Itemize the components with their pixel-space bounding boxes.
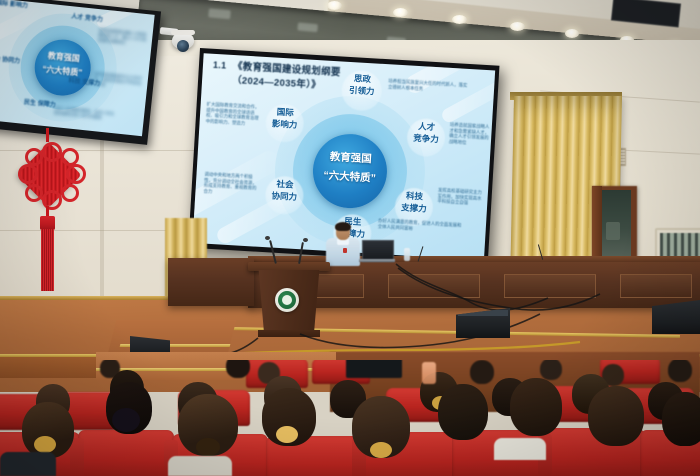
audience-seat[interactable] <box>78 430 174 476</box>
knot-loop <box>42 142 62 162</box>
node-desc-social: 调动中央和地方两个积极性，充分调动全社会资源，形成支持教育、重视教育的合力 <box>203 171 260 196</box>
side-display-screen: 教育强国 “六大特质” 国际 影响力 人才 竞争力 社会 协同力 科技 支撑力 … <box>0 0 155 136</box>
audience-shoulders <box>494 438 546 460</box>
camera-collar <box>171 30 195 35</box>
node-desc-technology: 发挥高校基础研究主力军作用，加快实现高水平科技自立自强 <box>437 187 486 206</box>
node-desc-international: 扩大国际教育交流和合作，提升中国教育的全球话语权、吸引力和全球教育治理中的影响力… <box>206 101 263 126</box>
knot-loop <box>42 190 62 210</box>
side-core-line1: 教育强国 <box>35 51 92 66</box>
podium-microphone-head-2 <box>303 238 308 242</box>
beam-reflection <box>297 22 318 32</box>
hair-tie <box>34 436 56 453</box>
door-interior-object <box>606 222 620 240</box>
audience-head-front <box>588 386 644 446</box>
side-display-frame: 教育强国 “六大特质” 国际 影响力 人才 竞争力 社会 协同力 科技 支撑力 … <box>0 0 161 145</box>
ceiling-downlight <box>565 29 579 38</box>
core-label-line1: 教育强国 <box>313 151 388 167</box>
side-core-line2: “六大特质” <box>34 65 91 80</box>
side-label-international: 国际 影响力 <box>0 0 29 10</box>
hair-bun-front <box>196 438 220 456</box>
water-bottle-audience <box>422 362 436 384</box>
audience-shoulders <box>168 456 232 476</box>
slide-section-number: 1.1 <box>213 60 234 71</box>
audience-section <box>0 360 700 476</box>
knot-loop <box>25 148 43 166</box>
rear-monitor <box>346 360 402 378</box>
beam-reflection <box>208 8 231 19</box>
slide-stripe <box>440 69 495 124</box>
camera-lens-icon <box>177 40 189 52</box>
node-desc-ideological: 培养担当民族复兴大任的时代新人，落实立德树人根本任务 <box>388 78 469 94</box>
chinese-knot-icon <box>14 140 84 210</box>
knot-loop <box>25 184 43 202</box>
ceiling-downlight <box>393 8 408 17</box>
auditorium-lecture-photo: 教育强国 “六大特质” 国际 影响力 人才 竞争力 社会 协同力 科技 支撑力 … <box>0 0 700 476</box>
knot-tassel-head <box>40 216 55 230</box>
knot-loop <box>18 164 38 184</box>
seat-armrest <box>70 438 84 476</box>
ceiling-downlight <box>327 1 342 10</box>
audience-head-front <box>510 378 562 436</box>
podium-microphone-head <box>265 236 270 240</box>
hair-clip-front <box>276 426 298 443</box>
audience-head <box>540 360 562 380</box>
node-desc-talent: 培养造就国家战略人才和急需紧缺人才，确立人才引领发展的战略地位 <box>449 122 492 146</box>
audience-shoulders <box>0 452 56 476</box>
audience-head-front <box>438 384 488 440</box>
knot-loop <box>61 184 79 202</box>
audience-head <box>668 360 692 382</box>
presenter-hair <box>335 222 351 231</box>
core-label-line2: “六大特质” <box>312 170 387 186</box>
hair-tie-front <box>370 442 392 458</box>
ceiling-downlight <box>510 22 525 31</box>
hair-bun-front <box>112 408 140 432</box>
audience-head <box>226 360 250 378</box>
audience-head <box>470 360 494 384</box>
ceiling-downlight <box>452 15 467 24</box>
audience-head-front <box>662 392 700 446</box>
knot-loop <box>61 148 79 166</box>
knot-loop <box>66 164 86 184</box>
